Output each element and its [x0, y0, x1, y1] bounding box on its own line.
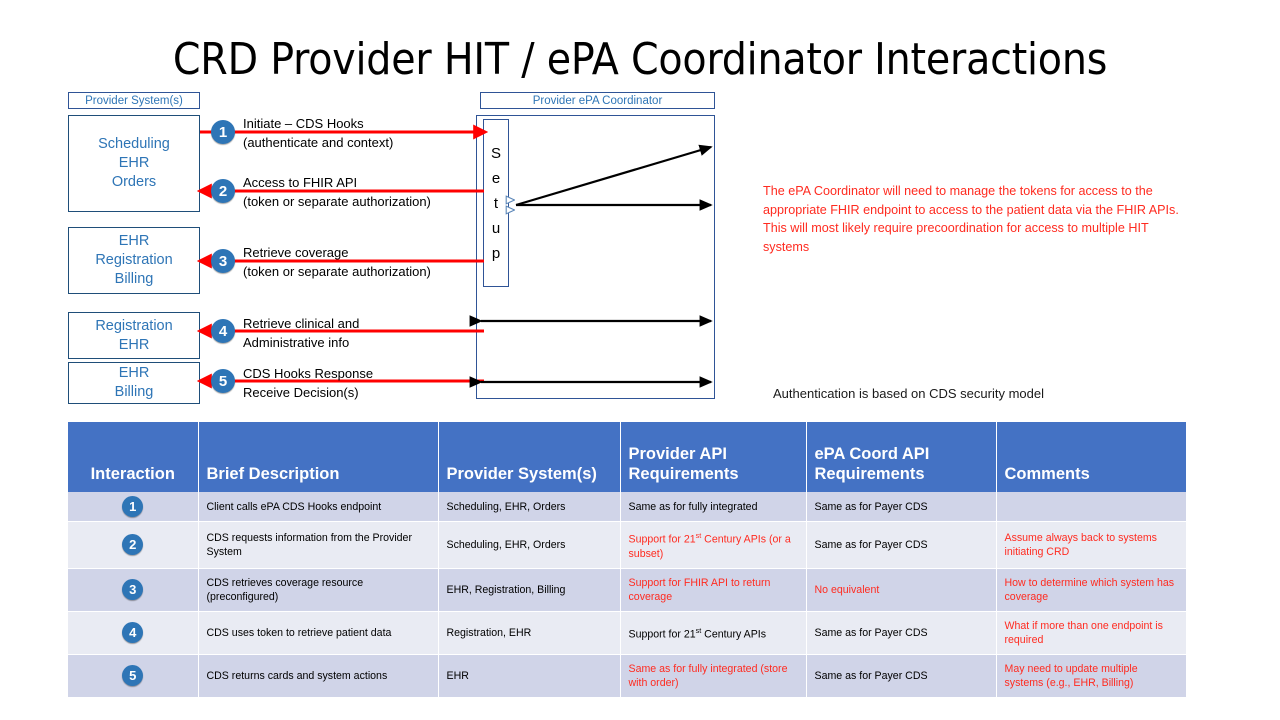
table-row: 3CDS retrieves coverage resource (precon…	[68, 568, 1186, 611]
cell-comments: May need to update multiple systems (e.g…	[996, 654, 1186, 697]
cell-provider-systems: Scheduling, EHR, Orders	[438, 522, 620, 569]
flow-label-line2: Receive Decision(s)	[243, 383, 373, 402]
cell-brief-description: CDS requests information from the Provid…	[198, 522, 438, 569]
cell-brief-description: CDS uses token to retrieve patient data	[198, 611, 438, 654]
cell-brief-description: Client calls ePA CDS Hooks endpoint	[198, 492, 438, 522]
interaction-badge: 4	[122, 622, 143, 643]
provider-systems-header-label: Provider System(s)	[85, 95, 183, 107]
cell-brief-description: CDS returns cards and system actions	[198, 654, 438, 697]
column-header-comments: Comments	[996, 422, 1186, 492]
interaction-badge: 3	[122, 579, 143, 600]
flow-label-2: Access to FHIR API (token or separate au…	[243, 173, 431, 211]
setup-letter: t	[494, 191, 498, 216]
flow-label-line2: (authenticate and context)	[243, 133, 393, 152]
flow-label-line1: CDS Hooks Response	[243, 366, 373, 381]
system-box-registration-ehr: Registration EHR	[68, 312, 200, 359]
cell-epa-api: Same as for Payer CDS	[806, 654, 996, 697]
cell-epa-api: Same as for Payer CDS	[806, 611, 996, 654]
coordinator-header: Provider ePA Coordinator	[480, 92, 715, 109]
flow-label-line1: Access to FHIR API	[243, 175, 357, 190]
column-header-provider-systems: Provider System(s)	[438, 422, 620, 492]
system-box-ehr-billing: EHR Billing	[68, 362, 200, 404]
system-box-line: Orders	[112, 173, 156, 192]
coordinator-box	[476, 115, 715, 399]
flow-label-1: Initiate – CDS Hooks (authenticate and c…	[243, 114, 393, 152]
column-header-brief-description: Brief Description	[198, 422, 438, 492]
cell-provider-api: Support for 21st Century APIs	[620, 611, 806, 654]
column-header-provider-api-requirements: Provider API Requirements	[620, 422, 806, 492]
system-box-ehr-registration-billing: EHR Registration Billing	[68, 227, 200, 294]
table-row: 1Client calls ePA CDS Hooks endpointSche…	[68, 492, 1186, 522]
column-header-epa-coord-api-requirements: ePA Coord API Requirements	[806, 422, 996, 492]
system-box-line: EHR	[119, 364, 150, 383]
cell-interaction-number: 3	[68, 568, 198, 611]
provider-systems-header: Provider System(s)	[68, 92, 200, 109]
table-body: 1Client calls ePA CDS Hooks endpointSche…	[68, 492, 1186, 697]
system-box-line: Registration	[95, 317, 172, 336]
cell-comments: How to determine which system has covera…	[996, 568, 1186, 611]
cell-provider-systems: Scheduling, EHR, Orders	[438, 492, 620, 522]
cell-provider-api: Same as for fully integrated (store with…	[620, 654, 806, 697]
flow-label-4: Retrieve clinical and Administrative inf…	[243, 314, 359, 352]
flow-label-line2: Administrative info	[243, 333, 359, 352]
flow-badge-5: 5	[211, 369, 235, 393]
interaction-badge: 2	[122, 534, 143, 555]
slide-canvas: CRD Provider HIT / ePA Coordinator Inter…	[0, 0, 1280, 720]
cell-provider-systems: Registration, EHR	[438, 611, 620, 654]
flow-badge-label: 5	[219, 373, 227, 390]
system-box-line: Billing	[115, 270, 154, 289]
cell-interaction-number: 5	[68, 654, 198, 697]
interaction-badge: 1	[122, 496, 143, 517]
system-box-line: EHR	[119, 232, 150, 251]
interactions-table: Interaction Brief Description Provider S…	[68, 422, 1186, 698]
flow-label-line1: Retrieve clinical and	[243, 316, 359, 331]
interaction-badge: 5	[122, 665, 143, 686]
setup-letter: u	[492, 216, 500, 241]
authentication-note: Authentication is based on CDS security …	[773, 386, 1044, 401]
system-box-line: Scheduling	[98, 135, 170, 154]
system-box-line: EHR	[119, 336, 150, 355]
cell-provider-api: Same as for fully integrated	[620, 492, 806, 522]
cell-brief-description: CDS retrieves coverage resource (preconf…	[198, 568, 438, 611]
flow-badge-3: 3	[211, 249, 235, 273]
table-row: 4CDS uses token to retrieve patient data…	[68, 611, 1186, 654]
cell-provider-systems: EHR, Registration, Billing	[438, 568, 620, 611]
cell-epa-api: Same as for Payer CDS	[806, 522, 996, 569]
flow-label-line2: (token or separate authorization)	[243, 192, 431, 211]
cell-interaction-number: 1	[68, 492, 198, 522]
cell-epa-api: No equivalent	[806, 568, 996, 611]
setup-box: S e t u p	[483, 119, 509, 287]
setup-letter: p	[492, 241, 500, 266]
table-header-row: Interaction Brief Description Provider S…	[68, 422, 1186, 492]
setup-letter: S	[491, 141, 501, 166]
flow-label-line1: Retrieve coverage	[243, 245, 349, 260]
flow-badge-label: 2	[219, 183, 227, 200]
setup-letter: e	[492, 166, 500, 191]
cell-comments: Assume always back to systems initiating…	[996, 522, 1186, 569]
cell-comments: What if more than one endpoint is requir…	[996, 611, 1186, 654]
flow-label-3: Retrieve coverage (token or separate aut…	[243, 243, 431, 281]
flow-badge-2: 2	[211, 179, 235, 203]
flow-badge-4: 4	[211, 319, 235, 343]
cell-provider-api: Support for 21st Century APIs (or a subs…	[620, 522, 806, 569]
coordinator-token-note: The ePA Coordinator will need to manage …	[763, 182, 1193, 256]
cell-provider-systems: EHR	[438, 654, 620, 697]
flow-label-line2: (token or separate authorization)	[243, 262, 431, 281]
system-box-line: Billing	[115, 383, 154, 402]
column-header-interaction: Interaction	[68, 422, 198, 492]
page-title: CRD Provider HIT / ePA Coordinator Inter…	[0, 34, 1280, 85]
coordinator-header-label: Provider ePA Coordinator	[533, 95, 663, 107]
table-row: 2CDS requests information from the Provi…	[68, 522, 1186, 569]
cell-interaction-number: 2	[68, 522, 198, 569]
table-row: 5CDS returns cards and system actionsEHR…	[68, 654, 1186, 697]
system-box-line: Registration	[95, 251, 172, 270]
flow-badge-label: 1	[219, 124, 227, 141]
system-box-scheduling-ehr-orders: Scheduling EHR Orders	[68, 115, 200, 212]
cell-interaction-number: 4	[68, 611, 198, 654]
flow-label-line1: Initiate – CDS Hooks	[243, 116, 364, 131]
cell-epa-api: Same as for Payer CDS	[806, 492, 996, 522]
cell-provider-api: Support for FHIR API to return coverage	[620, 568, 806, 611]
flow-label-5: CDS Hooks Response Receive Decision(s)	[243, 364, 373, 402]
flow-badge-label: 4	[219, 323, 227, 340]
flow-badge-label: 3	[219, 253, 227, 270]
flow-badge-1: 1	[211, 120, 235, 144]
system-box-line: EHR	[119, 154, 150, 173]
cell-comments	[996, 492, 1186, 522]
